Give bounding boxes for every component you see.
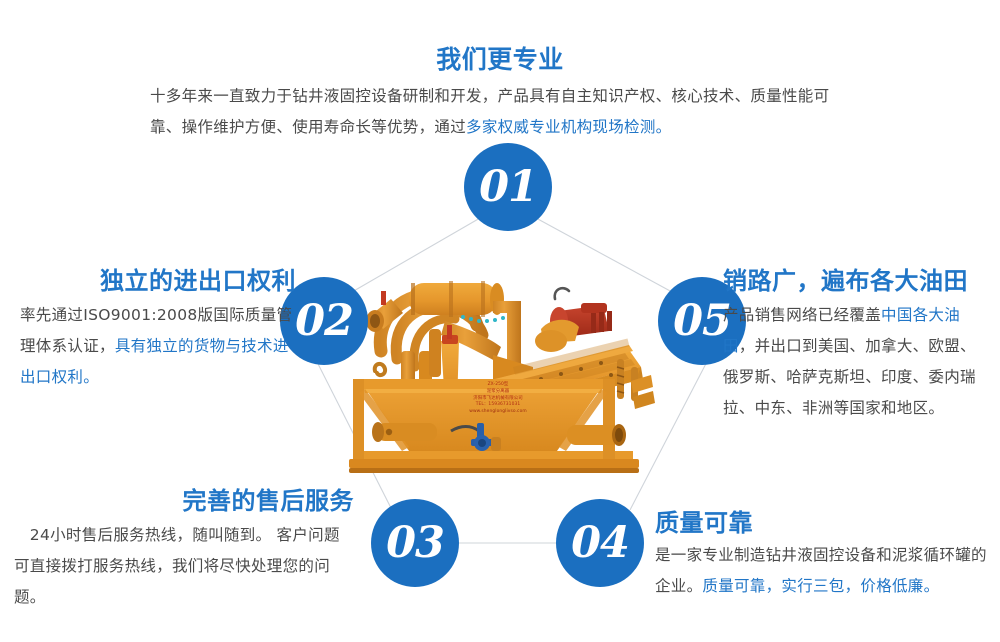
plain-text: ，并出口到美国、加拿大、欧盟、俄罗斯、哈萨克斯坦、印度、委内瑞拉、中东、非洲等国…: [723, 337, 976, 417]
plain-text: 产品销售网络已经覆盖: [723, 306, 881, 324]
step-badge-04-label: 04: [571, 518, 629, 568]
nameplate-line-2: 泥浆分离器: [452, 389, 544, 396]
feature-block-01: 我们更专业 十多年来一直致力于钻井液固控设备研制和开发，产品具有自主知识产权、核…: [150, 44, 850, 143]
promo-graphic: ZX-250型 泥浆分离器 济阳市飞达机械有限公司 TEL：1593673103…: [0, 0, 1000, 642]
feature-block-04: 质量可靠 是一家专业制造钻井液固控设备和泥浆循环罐的企业。质量可靠，实行三包，价…: [655, 508, 995, 602]
feature-block-05: 销路广，遍布各大油田 产品销售网络已经覆盖中国各大油田，并出口到美国、加拿大、欧…: [723, 266, 991, 424]
feature-03-heading: 完善的售后服务: [14, 486, 354, 516]
feature-04-body: 是一家专业制造钻井液固控设备和泥浆循环罐的企业。质量可靠，实行三包，价格低廉。: [655, 540, 995, 602]
feature-05-heading: 销路广，遍布各大油田: [723, 266, 991, 296]
nameplate-line-1: ZX-250型: [452, 382, 544, 389]
nameplate-line-5: www.shenglonglivso.com: [452, 409, 544, 416]
feature-02-heading: 独立的进出口权利: [20, 266, 296, 296]
step-badge-03-label: 03: [386, 518, 444, 568]
feature-02-body: 率先通过ISO9001:2008版国际质量管理体系认证，具有独立的货物与技术进出…: [20, 300, 296, 393]
machine-nameplate: ZX-250型 泥浆分离器 济阳市飞达机械有限公司 TEL：1593673103…: [452, 382, 544, 416]
highlighted-text: 质量可靠，实行三包，价格低廉。: [702, 577, 939, 595]
feature-01-heading: 我们更专业: [150, 44, 850, 75]
highlighted-text: 多家权威专业机构现场检测。: [466, 118, 671, 136]
step-badge-01-label: 01: [479, 162, 537, 212]
plain-text: 24小时售后服务热线，随叫随到。 客户问题可直接拨打服务热线，我们将尽快处理您的…: [14, 526, 340, 606]
feature-05-body: 产品销售网络已经覆盖中国各大油田，并出口到美国、加拿大、欧盟、俄罗斯、哈萨克斯坦…: [723, 300, 991, 424]
step-badge-04[interactable]: 04: [556, 499, 644, 587]
feature-01-body: 十多年来一直致力于钻井液固控设备研制和开发，产品具有自主知识产权、核心技术、质量…: [150, 81, 850, 143]
machine-illustration: [345, 255, 665, 487]
feature-block-03: 完善的售后服务 24小时售后服务热线，随叫随到。 客户问题可直接拨打服务热线，我…: [14, 486, 354, 613]
step-badge-02-label: 02: [295, 296, 353, 346]
step-badge-01[interactable]: 01: [464, 143, 552, 231]
feature-block-02: 独立的进出口权利 率先通过ISO9001:2008版国际质量管理体系认证，具有独…: [20, 266, 296, 393]
feature-03-body: 24小时售后服务热线，随叫随到。 客户问题可直接拨打服务热线，我们将尽快处理您的…: [14, 520, 354, 613]
step-badge-03[interactable]: 03: [371, 499, 459, 587]
feature-04-heading: 质量可靠: [655, 508, 995, 538]
